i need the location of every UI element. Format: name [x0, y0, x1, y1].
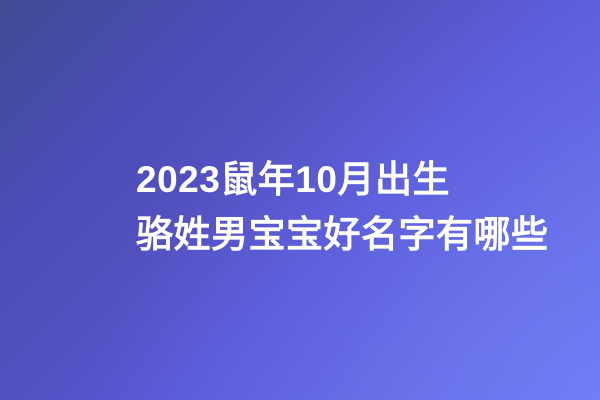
title-line-2: 骆姓男宝宝好名字有哪些	[136, 207, 576, 262]
title-line-1: 2023鼠年10月出生	[136, 152, 576, 207]
article-cover-card: 2023鼠年10月出生 骆姓男宝宝好名字有哪些	[0, 0, 600, 400]
page-title: 2023鼠年10月出生 骆姓男宝宝好名字有哪些	[136, 152, 576, 262]
